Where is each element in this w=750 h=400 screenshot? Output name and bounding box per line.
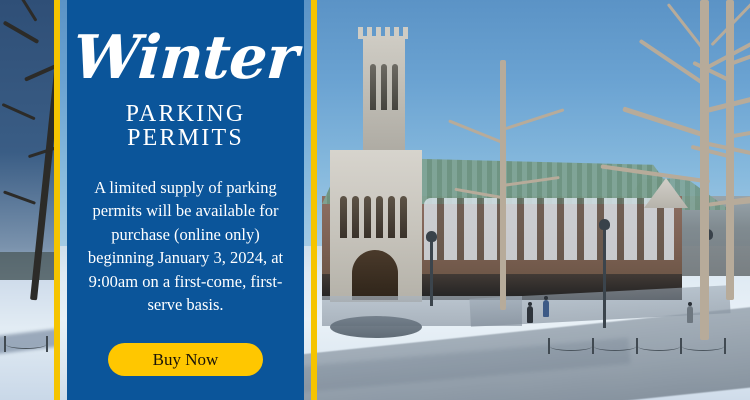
entry-window: [400, 196, 407, 238]
content-panel: Winter PARKING PERMITS A limited supply …: [67, 0, 304, 400]
fountain-planter: [330, 316, 422, 338]
tall-window-bank: [424, 198, 674, 260]
gothic-tower: [363, 36, 405, 168]
page-subtitle: PARKING PERMITS: [71, 102, 300, 150]
tower-window: [381, 64, 387, 110]
accent-rule-right: [311, 0, 317, 400]
tower-window: [370, 64, 376, 110]
chain-fence-left: [4, 336, 54, 352]
pedestrian: [687, 306, 693, 323]
arched-entrance: [352, 250, 398, 300]
lamp-post: [603, 228, 606, 328]
body-copy: A limited supply of parking permits will…: [77, 176, 295, 317]
accent-rule-left: [54, 0, 60, 400]
distant-building-band: [0, 252, 54, 282]
winter-parking-permits-banner: Winter PARKING PERMITS A limited supply …: [0, 0, 750, 400]
entry-window: [364, 196, 371, 238]
tower-window: [392, 64, 398, 110]
pedestrian: [527, 306, 533, 323]
left-photo-strip: [0, 0, 54, 400]
pedestrian: [543, 300, 549, 317]
page-title: Winter: [71, 28, 299, 88]
chain-fence: [548, 338, 748, 354]
entry-window: [388, 196, 395, 238]
lamp-post: [430, 240, 433, 306]
entry-window: [352, 196, 359, 238]
entry-window: [340, 196, 347, 238]
buy-now-button[interactable]: Buy Now: [108, 343, 263, 376]
entry-window: [376, 196, 383, 238]
